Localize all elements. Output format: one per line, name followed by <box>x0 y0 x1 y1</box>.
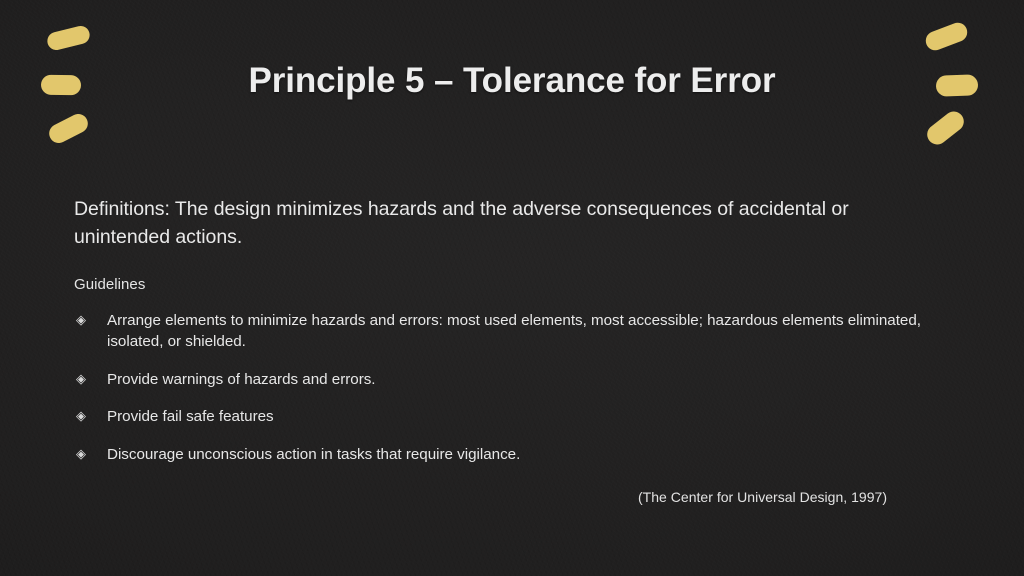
gold-dash-left-top-icon <box>45 24 91 52</box>
source-citation: (The Center for Universal Design, 1997) <box>0 489 1024 505</box>
list-item-text: Provide warnings of hazards and errors. <box>107 371 376 388</box>
guidelines-heading: Guidelines <box>74 276 950 293</box>
list-item: ◈ Provide warnings of hazards and errors… <box>74 369 950 391</box>
diamond-bullet-icon: ◈ <box>76 310 86 330</box>
diamond-bullet-icon: ◈ <box>76 406 86 426</box>
list-item: ◈ Arrange elements to minimize hazards a… <box>74 310 950 353</box>
gold-dash-left-bottom-icon <box>46 111 91 147</box>
slide-title: Principle 5 – Tolerance for Error <box>0 61 1024 101</box>
diamond-bullet-icon: ◈ <box>76 369 86 389</box>
guidelines-list: ◈ Arrange elements to minimize hazards a… <box>74 310 950 466</box>
list-item-text: Discourage unconscious action in tasks t… <box>107 446 520 463</box>
gold-dash-right-bottom-icon <box>923 107 968 148</box>
diamond-bullet-icon: ◈ <box>76 444 86 464</box>
slide-body: Definitions: The design minimizes hazard… <box>74 196 950 466</box>
gold-dash-right-top-icon <box>923 20 970 53</box>
list-item-text: Arrange elements to minimize hazards and… <box>107 312 921 351</box>
slide: Principle 5 – Tolerance for Error Defini… <box>0 0 1024 576</box>
list-item-text: Provide fail safe features <box>107 408 274 425</box>
list-item: ◈ Provide fail safe features <box>74 406 950 428</box>
definition-text: Definitions: The design minimizes hazard… <box>74 196 874 252</box>
list-item: ◈ Discourage unconscious action in tasks… <box>74 444 950 466</box>
